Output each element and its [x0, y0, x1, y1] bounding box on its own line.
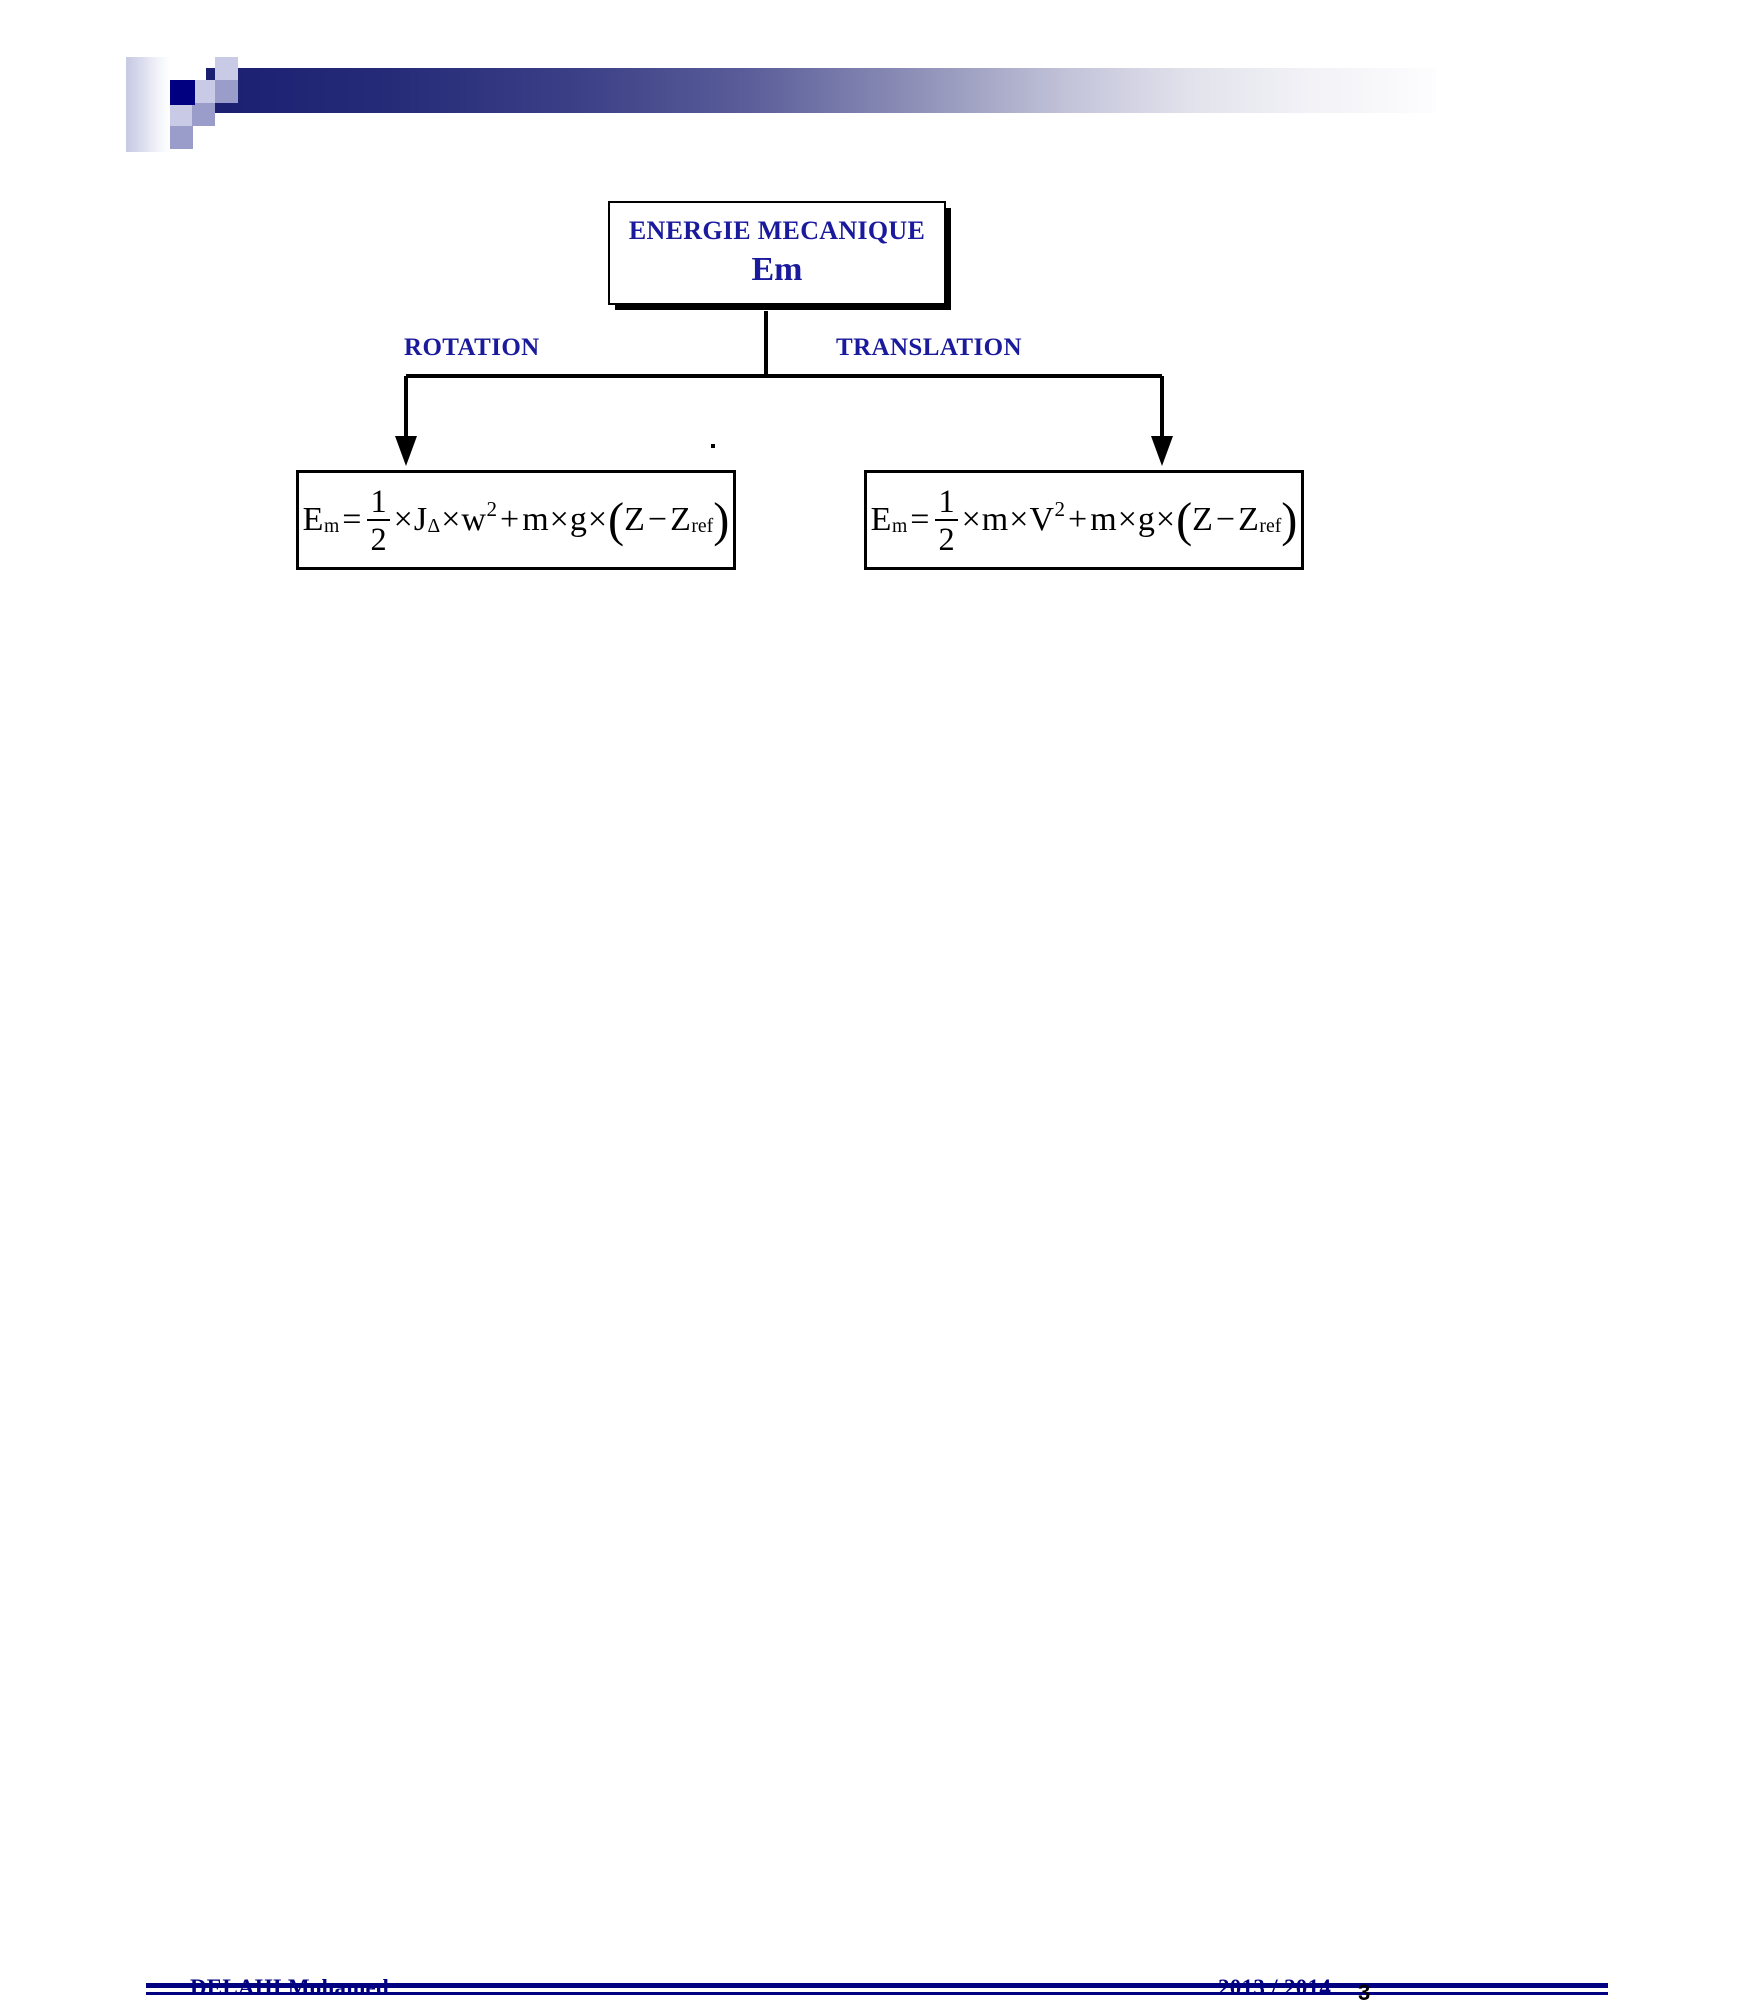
rot-var-inertia: J [414, 503, 427, 537]
trans-height-ref-sub: ref [1259, 517, 1281, 537]
trans-times-2: × [1009, 503, 1028, 537]
rot-fraction-one-half: 1 2 [367, 485, 389, 556]
rot-lhs: E [303, 503, 324, 537]
branch-label-rotation: ROTATION [404, 334, 540, 362]
trans-plus: + [1068, 503, 1087, 537]
rot-height-ref-sub: ref [691, 517, 713, 537]
trans-equals: = [910, 503, 929, 537]
trans-lhs-sub: m [892, 517, 907, 537]
rot-times-4: × [588, 503, 607, 537]
rot-times-3: × [550, 503, 569, 537]
trans-frac-numerator: 1 [935, 485, 957, 519]
trans-mass: m [1090, 503, 1116, 537]
rot-var-inertia-sub-delta: Δ [428, 517, 441, 537]
rot-paren-open: ( [608, 502, 624, 541]
formula-box-rotation: Em = 1 2 × JΔ × w2 + m×g×(Z−Zref) [296, 470, 736, 570]
trans-paren-open: ( [1176, 502, 1192, 541]
trans-lhs: E [871, 503, 892, 537]
rot-times-2: × [441, 503, 460, 537]
trans-times-1: × [962, 503, 981, 537]
trans-var-velocity-sup: 2 [1055, 499, 1066, 520]
rot-gravity: g [570, 503, 587, 537]
footer-page-number: 3 [1358, 1980, 1370, 2006]
formula-box-translation: Em = 1 2 × m × V2 + m×g×(Z−Zref) [864, 470, 1304, 570]
trans-times-3: × [1118, 503, 1137, 537]
rot-paren-close: ) [713, 502, 729, 541]
rot-lhs-sub: m [324, 517, 339, 537]
footer-author-name: DELAHI Mohamed [190, 1975, 389, 2001]
trans-paren-close: ) [1281, 502, 1297, 541]
title-box-energie-mecanique: ENERGIE MECANIQUE Em [608, 201, 946, 305]
title-box-line1: ENERGIE MECANIQUE [629, 217, 925, 246]
slide-footer: DELAHI Mohamed 2013 / 2014 3 [0, 975, 1754, 1240]
trans-frac-denominator: 2 [935, 521, 957, 555]
rot-equals: = [342, 503, 361, 537]
trans-var-mass: m [982, 503, 1008, 537]
title-box-line2: Em [752, 250, 803, 289]
trans-height: Z [1192, 503, 1213, 537]
formula-translation-expression: Em = 1 2 × m × V2 + m×g×(Z−Zref) [871, 485, 1298, 556]
trans-gravity: g [1138, 503, 1155, 537]
rot-height: Z [624, 503, 645, 537]
rot-var-omega-sup: 2 [486, 499, 497, 520]
trans-height-ref: Z [1238, 503, 1259, 537]
rot-plus: + [500, 503, 519, 537]
footer-academic-year: 2013 / 2014 [1218, 1975, 1331, 2001]
rot-height-ref: Z [670, 503, 691, 537]
trans-fraction-one-half: 1 2 [935, 485, 957, 556]
rot-minus: − [648, 503, 667, 537]
stray-dot-mark [711, 444, 715, 448]
trans-var-velocity: V [1029, 503, 1054, 537]
rot-mass: m [522, 503, 548, 537]
rot-frac-denominator: 2 [367, 521, 389, 555]
branch-label-translation: TRANSLATION [836, 334, 1022, 362]
rot-frac-numerator: 1 [367, 485, 389, 519]
formula-rotation-expression: Em = 1 2 × JΔ × w2 + m×g×(Z−Zref) [303, 485, 730, 556]
trans-minus: − [1216, 503, 1235, 537]
rot-var-omega: w [461, 503, 486, 537]
trans-times-4: × [1156, 503, 1175, 537]
rot-times-1: × [394, 503, 413, 537]
